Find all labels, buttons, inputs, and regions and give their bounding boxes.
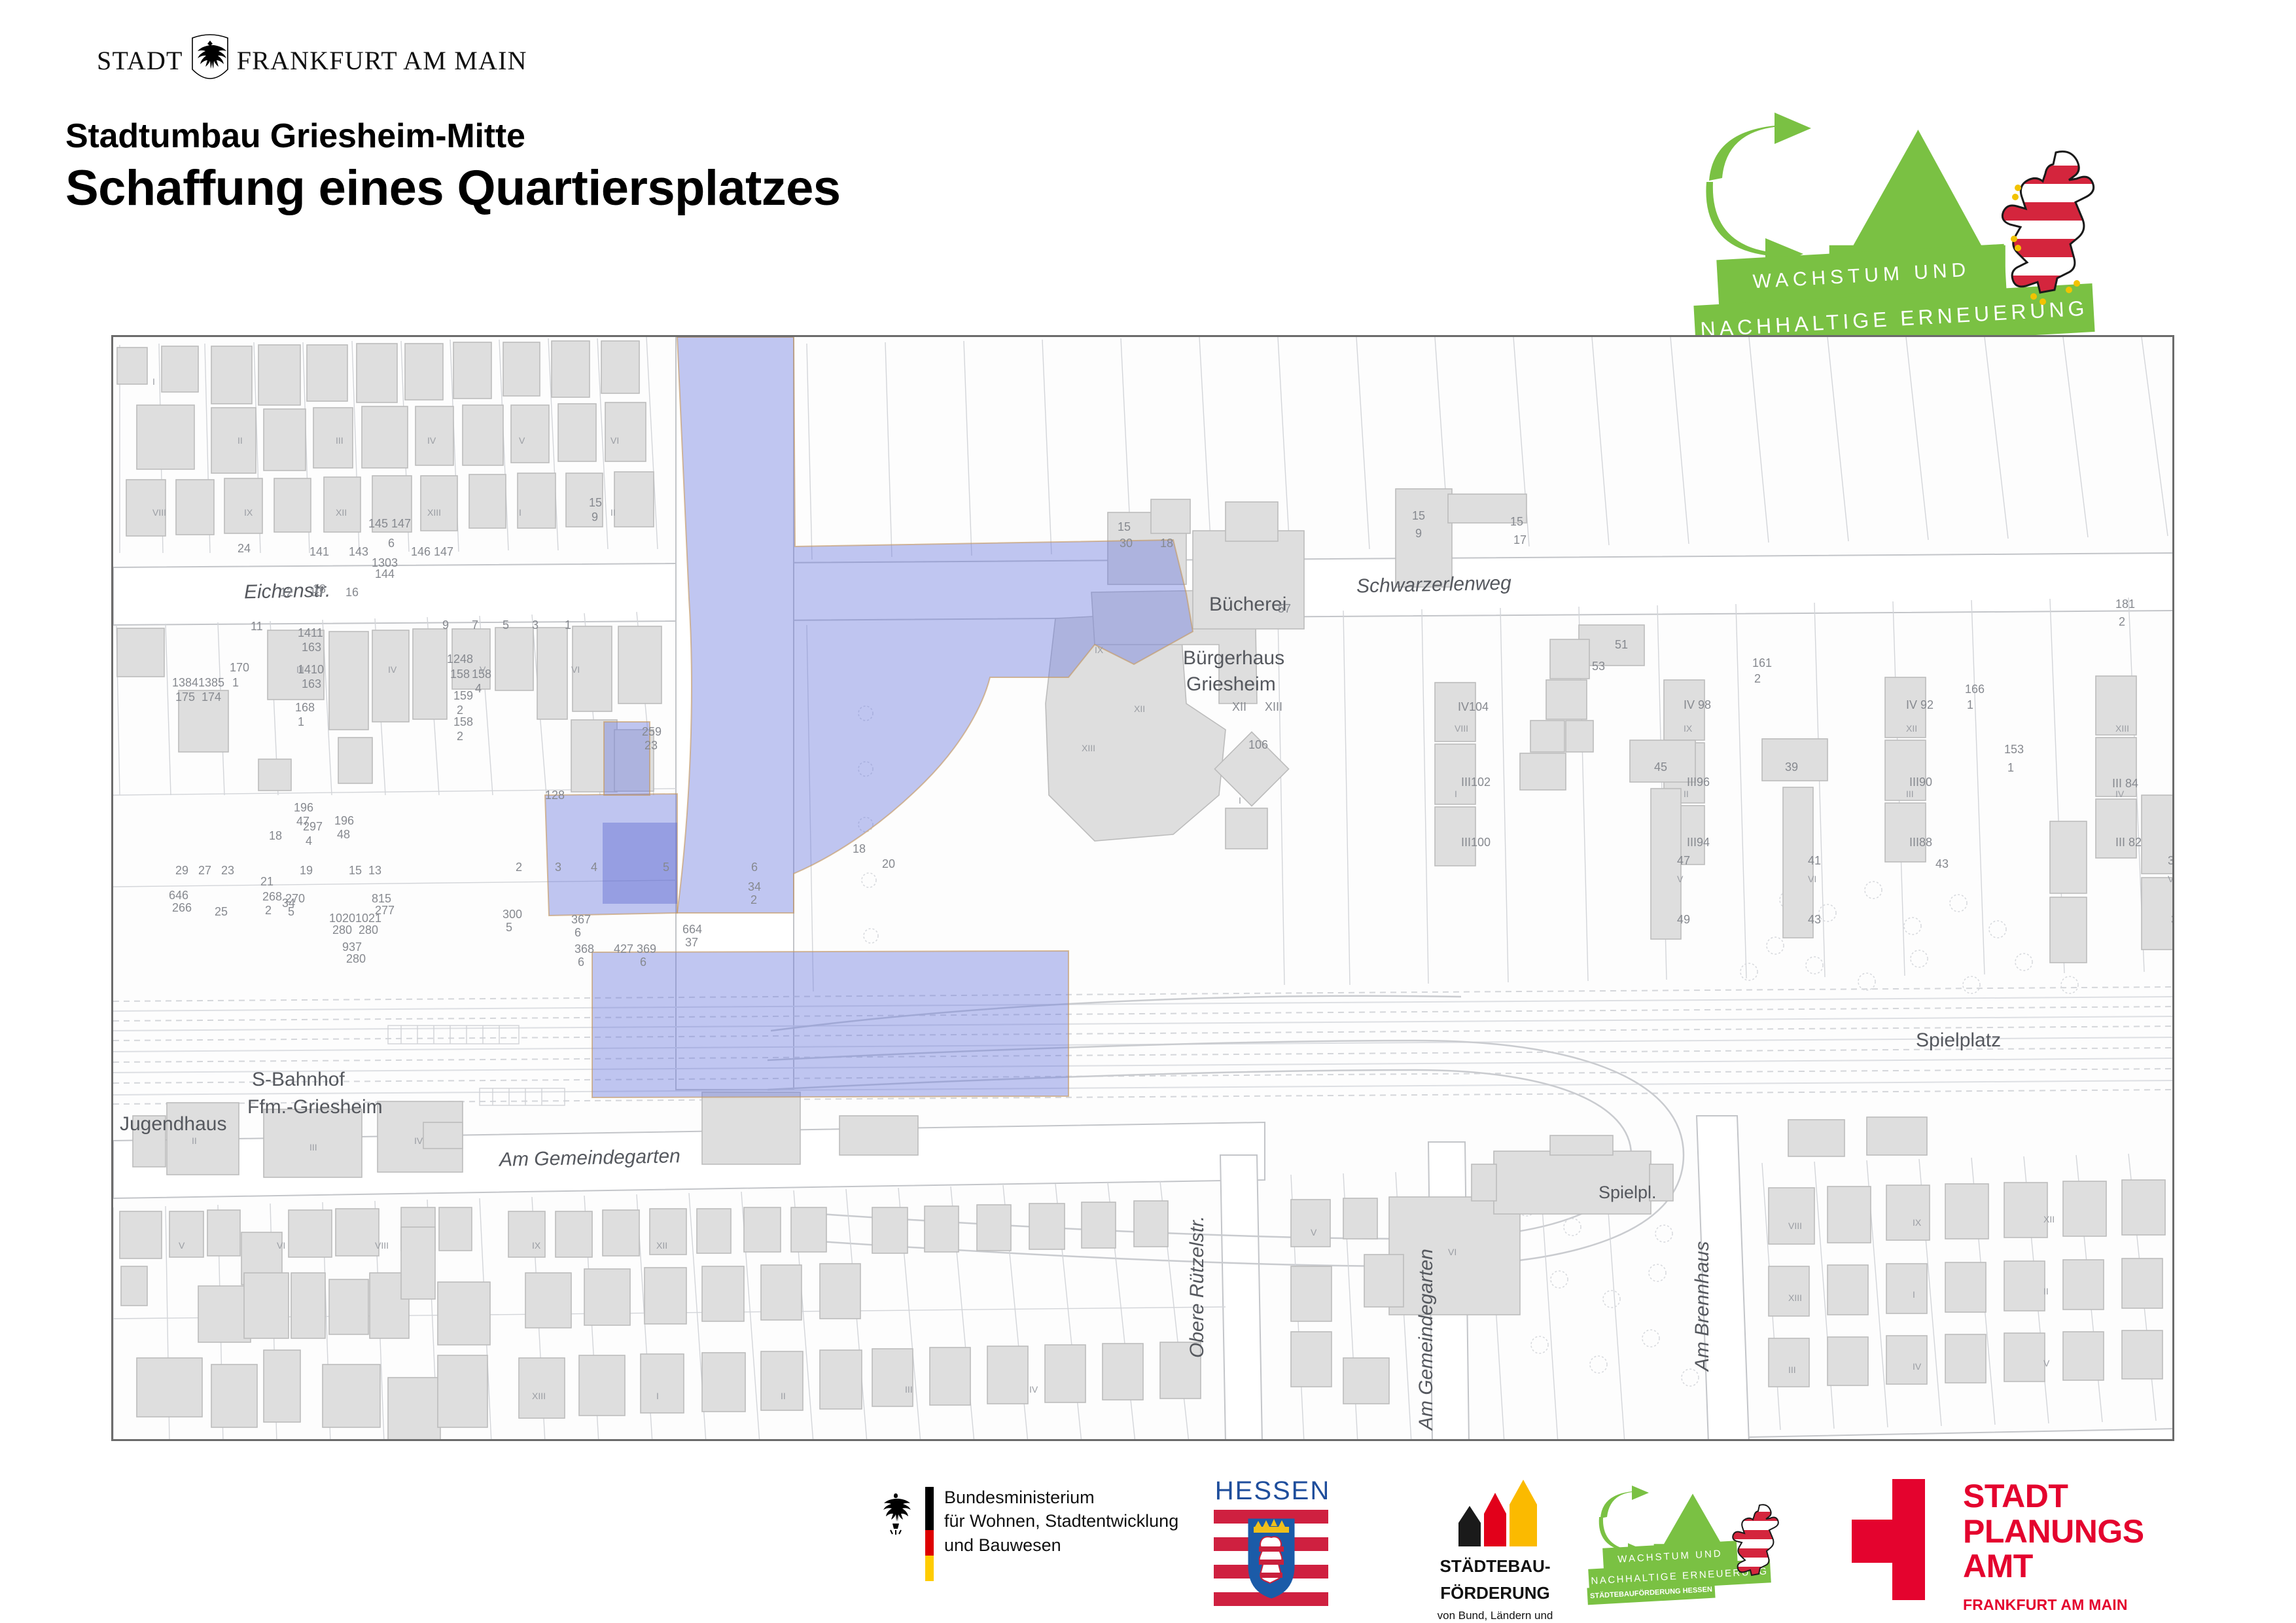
house-yellow-icon	[1510, 1477, 1532, 1550]
bmwsb-text: Bundesministerium für Wohnen, Stadtentwi…	[944, 1486, 1178, 1557]
spa-word-amt: AMT	[1963, 1549, 2144, 1584]
poster-page: STADT FRANKFURT AM MAIN Stadtumbau Gries…	[0, 0, 2296, 1623]
federal-eagle-icon	[877, 1489, 915, 1537]
german-flag-bar-icon	[925, 1487, 934, 1581]
city-logo-left-text: STADT	[97, 45, 183, 76]
map-canvas[interactable]: Eichenstr. Schwarzerlenweg Erzbergerstr.…	[113, 337, 2172, 1439]
cadastral-map[interactable]: Eichenstr. Schwarzerlenweg Erzbergerstr.…	[111, 335, 2174, 1441]
spa-subline: FRANKFURT AM MAIN	[1963, 1596, 2144, 1614]
hessen-wordmark: HESSEN	[1214, 1476, 1332, 1506]
city-of-frankfurt-logo: STADT FRANKFURT AM MAIN	[97, 31, 527, 89]
city-logo-right-text: FRANKFURT AM MAIN	[237, 45, 527, 76]
staedtebau-line-2: FÖRDERUNG	[1410, 1583, 1580, 1603]
frankfurt-eagle-icon	[190, 31, 230, 89]
staedtebaufoerderung-logo: STÄDTEBAU- FÖRDERUNG von Bund, Ländern u…	[1410, 1480, 1580, 1623]
hessen-logo: HESSEN	[1214, 1476, 1332, 1608]
wachstum-erneuerung-small-badge: WACHSTUM UND NACHHALTIGE ERNEUERUNG STÄD…	[1597, 1484, 1812, 1609]
staedtebau-line-1: STÄDTEBAU-	[1410, 1556, 1580, 1577]
badge-line-1-text: WACHSTUM UND	[1752, 259, 1971, 294]
bmwsb-line-3: und Bauwesen	[944, 1535, 1061, 1555]
project-area-highlight	[113, 337, 2174, 1441]
bmwsb-line-1: Bundesministerium	[944, 1488, 1095, 1507]
bmwsb-line-2: für Wohnen, Stadtentwicklung	[944, 1511, 1178, 1531]
stadtplanungsamt-logo: STADT PLANUNGS AMT FRANKFURT AM MAIN	[1852, 1479, 2144, 1614]
project-subtitle: Stadtumbau Griesheim-Mitte	[65, 116, 525, 156]
page-title: Schaffung eines Quartiersplatzes	[65, 160, 840, 217]
hessen-lion-small-icon	[1731, 1503, 1784, 1584]
stadtplanungsamt-mark-icon	[1852, 1479, 1935, 1600]
small-badge-line-3-text: STÄDTEBAUFÖRDERUNG HESSEN	[1590, 1586, 1712, 1600]
stadtplanungsamt-wordmark: STADT PLANUNGS AMT FRANKFURT AM MAIN	[1963, 1479, 2144, 1614]
spa-word-planungs: PLANUNGS	[1963, 1514, 2144, 1550]
house-red-icon	[1484, 1490, 1506, 1550]
staedtebau-line-3: von Bund, Ländern und	[1410, 1609, 1580, 1622]
three-houses-icon	[1410, 1480, 1580, 1550]
bmwsb-logo: Bundesministerium für Wohnen, Stadtentwi…	[877, 1486, 1178, 1581]
spa-word-stadt: STADT	[1963, 1479, 2144, 1514]
hessen-shield-icon	[1247, 1518, 1296, 1599]
hessen-flag-icon	[1214, 1510, 1328, 1608]
funding-logo-bar: Bundesministerium für Wohnen, Stadtentwi…	[0, 1471, 2296, 1623]
house-black-icon	[1458, 1503, 1481, 1550]
hessen-lion-icon	[1996, 147, 2107, 317]
